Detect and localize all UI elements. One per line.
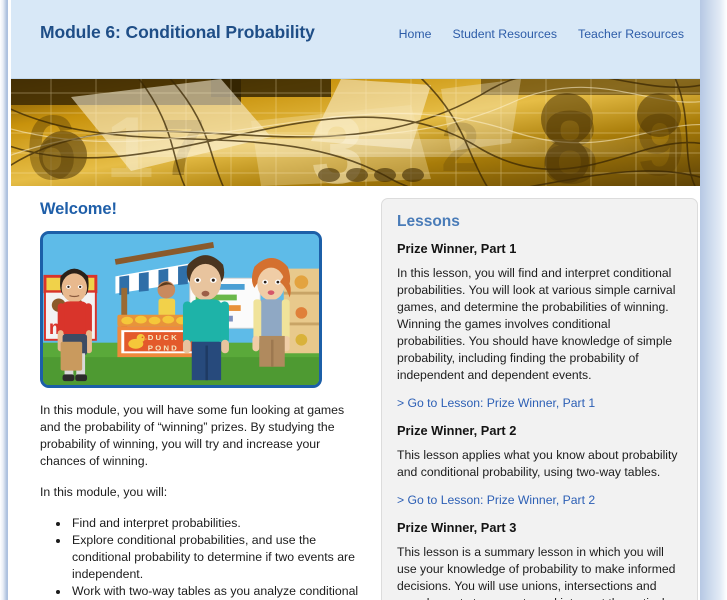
lesson-link-part-2[interactable]: > Go to Lesson: Prize Winner, Part 2 bbox=[397, 493, 682, 507]
lesson-description-part-3: This lesson is a summary lesson in which… bbox=[397, 544, 682, 600]
intro-paragraph: In this module, you will have some fun l… bbox=[40, 402, 362, 470]
lesson-description-part-2: This lesson applies what you know about … bbox=[397, 447, 682, 481]
site-header: Module 6: Conditional Probability Home S… bbox=[11, 0, 700, 79]
main-content: Welcome! m bbox=[11, 186, 700, 600]
list-intro-text: In this module, you will: bbox=[40, 484, 362, 501]
left-column: Welcome! m bbox=[40, 200, 362, 600]
duck-pond-illustration: m bbox=[43, 234, 319, 385]
lesson-link-part-1[interactable]: > Go to Lesson: Prize Winner, Part 1 bbox=[397, 396, 682, 410]
nav-student-resources[interactable]: Student Resources bbox=[452, 27, 557, 41]
welcome-heading: Welcome! bbox=[40, 200, 362, 219]
list-item: Explore conditional probabilities, and u… bbox=[70, 532, 362, 583]
page-title: Module 6: Conditional Probability bbox=[40, 22, 315, 43]
list-item: Work with two-way tables as you analyze … bbox=[70, 583, 362, 600]
svg-text:DUCK: DUCK bbox=[148, 333, 179, 342]
list-item: Find and interpret probabilities. bbox=[70, 515, 362, 532]
banner-image: 6 1 7 3 2 8 9 bbox=[11, 79, 700, 186]
carnival-duck-pond-image: m bbox=[40, 231, 322, 388]
lesson-title-part-1: Prize Winner, Part 1 bbox=[397, 241, 682, 256]
page-right-edge bbox=[700, 0, 727, 600]
page-frame: Module 6: Conditional Probability Home S… bbox=[0, 0, 727, 600]
main-navigation: Home Student Resources Teacher Resources bbox=[399, 27, 700, 41]
svg-text:POND: POND bbox=[148, 343, 179, 352]
lesson-title-part-2: Prize Winner, Part 2 bbox=[397, 423, 682, 438]
banner-graphic: 6 1 7 3 2 8 9 bbox=[11, 79, 700, 186]
character-girl bbox=[252, 258, 291, 367]
lessons-heading: Lessons bbox=[397, 213, 682, 231]
module-objectives-list: Find and interpret probabilities. Explor… bbox=[40, 515, 362, 600]
nav-teacher-resources[interactable]: Teacher Resources bbox=[578, 27, 684, 41]
nav-home[interactable]: Home bbox=[399, 27, 432, 41]
lessons-panel: Lessons Prize Winner, Part 1 In this les… bbox=[381, 198, 698, 600]
lesson-description-part-1: In this lesson, you will find and interp… bbox=[397, 265, 682, 384]
lesson-title-part-3: Prize Winner, Part 3 bbox=[397, 520, 682, 535]
